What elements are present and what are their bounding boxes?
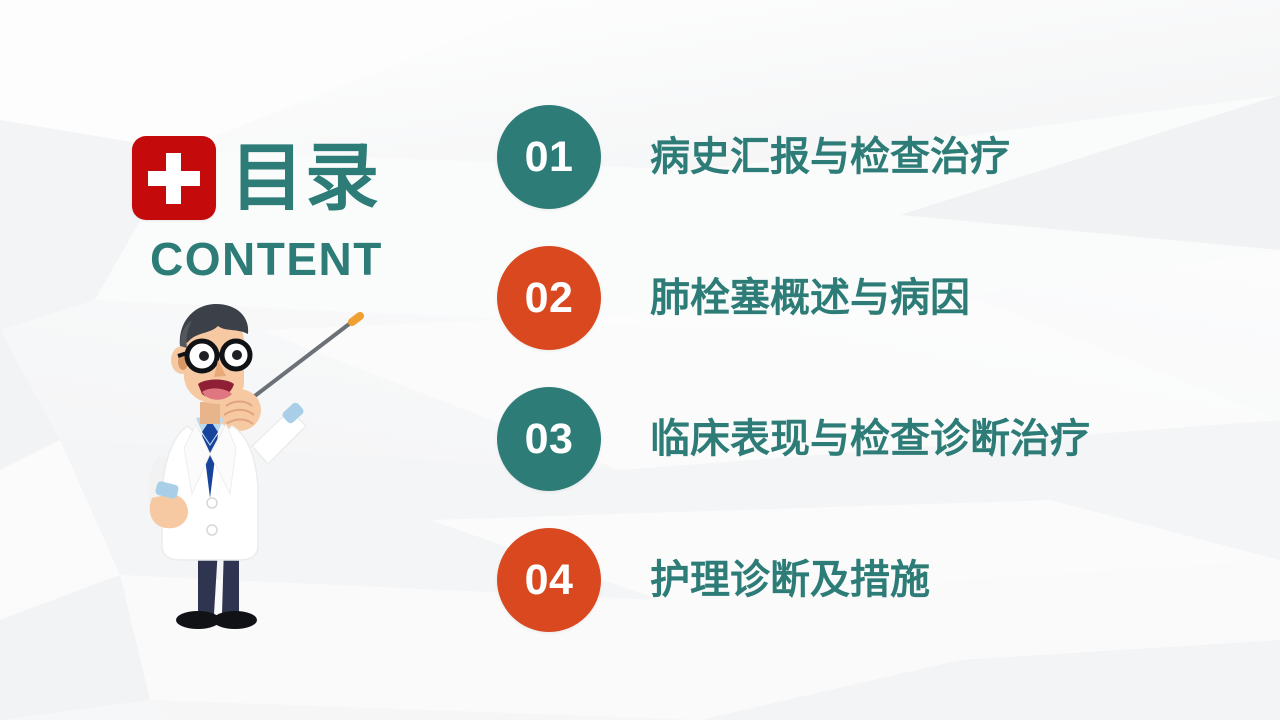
toc-number-badge: 03	[497, 387, 601, 491]
slide-canvas: 目录 CONTENT	[0, 0, 1280, 720]
cross-bar-vertical	[166, 153, 181, 204]
toc-item-label: 病史汇报与检查治疗	[650, 135, 1010, 179]
list-item[interactable]: 01 病史汇报与检查治疗	[497, 105, 1237, 209]
medical-cross-icon	[132, 136, 216, 220]
toc-number-badge: 04	[497, 528, 601, 632]
toc-number-badge: 02	[497, 246, 601, 350]
title-row: 目录	[132, 136, 432, 220]
page-subtitle: CONTENT	[150, 236, 432, 282]
title-block: 目录 CONTENT	[132, 136, 432, 282]
toc-list: 01 病史汇报与检查治疗 02 肺栓塞概述与病因 03 临床表现与检查诊断治疗 …	[497, 105, 1237, 632]
toc-item-label: 临床表现与检查诊断治疗	[650, 417, 1090, 461]
toc-item-label: 肺栓塞概述与病因	[650, 276, 970, 320]
toc-number-badge: 01	[497, 105, 601, 209]
doctor-with-pointer-illustration	[140, 298, 390, 650]
list-item[interactable]: 02 肺栓塞概述与病因	[497, 246, 1237, 350]
glasses-icon	[178, 341, 250, 371]
list-item[interactable]: 03 临床表现与检查诊断治疗	[497, 387, 1237, 491]
pointer-stick-icon	[239, 316, 360, 408]
list-item[interactable]: 04 护理诊断及措施	[497, 528, 1237, 632]
page-title: 目录	[230, 141, 380, 215]
toc-item-label: 护理诊断及措施	[650, 558, 930, 602]
